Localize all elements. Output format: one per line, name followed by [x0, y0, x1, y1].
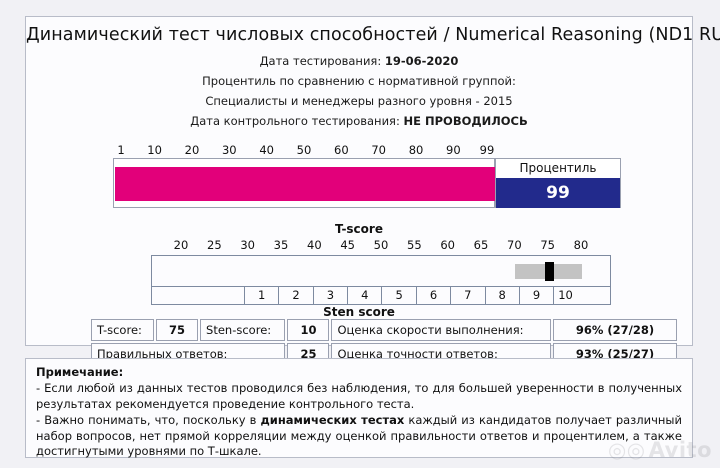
table-row: T-score: 75 Sten-score: 10 Оценка скорос… — [91, 319, 677, 341]
test-date-value: 19-06-2020 — [385, 54, 459, 68]
retest-value: НЕ ПРОВОДИЛОСЬ — [404, 114, 528, 128]
sten-cell: 5 — [382, 287, 416, 304]
sten-cell: 6 — [417, 287, 451, 304]
report-page: Динамический тест числовых способностей … — [0, 0, 720, 468]
sten-cell: 8 — [486, 287, 520, 304]
tscore-tick: 20 — [174, 238, 189, 252]
percentile-tick: 20 — [185, 143, 200, 157]
percentile-value-box: Процентиль 99 — [495, 158, 621, 208]
sten-empty-cell — [152, 287, 245, 304]
tscore-tick: 60 — [440, 238, 455, 252]
percentile-tick: 1 — [117, 143, 124, 157]
speed-value-cell: 96% (27/28) — [553, 319, 677, 341]
retest-label: Дата контрольного тестирования: — [190, 114, 400, 128]
tscore-tick: 35 — [274, 238, 289, 252]
tscore-tick: 70 — [507, 238, 522, 252]
sten-cell: 9 — [520, 287, 554, 304]
note-box: Примечание: - Если любой из данных тесто… — [25, 358, 693, 458]
speed-label-cell: Оценка скорости выполнения: — [331, 319, 551, 341]
sten-cell: 3 — [314, 287, 348, 304]
sten-scale: 12345678910 — [151, 286, 611, 305]
tscore-tick: 75 — [540, 238, 555, 252]
note-p2-start: - Важно понимать, что, поскольку в — [36, 413, 260, 427]
sten-cell: 7 — [451, 287, 485, 304]
tscore-marker — [545, 262, 554, 281]
note-paragraph-2: - Важно понимать, что, поскольку в динам… — [36, 413, 682, 460]
tscore-track — [151, 255, 611, 287]
percentile-tick: 10 — [147, 143, 162, 157]
sten-value-cell: 10 — [287, 319, 329, 341]
note-paragraph-1: - Если любой из данных тестов проводился… — [36, 381, 682, 412]
report-meta: Дата тестирования: 19-06-2020 Процентиль… — [26, 53, 692, 130]
test-date-line: Дата тестирования: 19-06-2020 — [26, 53, 692, 70]
tscore-value-cell: 75 — [156, 319, 198, 341]
percentile-bar-fill — [115, 167, 495, 201]
norm-group: Специалисты и менеджеры разного уровня -… — [26, 93, 692, 110]
tscore-axis: 20253035404550556065707580 — [181, 238, 581, 254]
percentile-tick: 30 — [222, 143, 237, 157]
report-card: Динамический тест числовых способностей … — [25, 16, 693, 346]
percentile-tick: 90 — [446, 143, 461, 157]
percentile-tick: 60 — [334, 143, 349, 157]
percentile-tick: 70 — [371, 143, 386, 157]
norm-line: Процентиль по сравнению с нормативной гр… — [26, 73, 692, 90]
tscore-title: T-score — [26, 222, 692, 236]
percentile-chart: 110203040506070809099 Процентиль 99 — [113, 143, 621, 208]
tscore-tick: 50 — [374, 238, 389, 252]
tscore-tick: 80 — [574, 238, 589, 252]
sten-label-cell: Sten-score: — [200, 319, 285, 341]
tscore-tick: 55 — [407, 238, 422, 252]
tscore-label-cell: T-score: — [91, 319, 154, 341]
percentile-tick: 50 — [297, 143, 312, 157]
sten-cell: 1 — [245, 287, 279, 304]
tscore-tick: 40 — [307, 238, 322, 252]
sten-cell: 4 — [348, 287, 382, 304]
percentile-bar-row: Процентиль 99 — [113, 158, 621, 208]
note-p2-bold: динамических тестах — [260, 413, 404, 427]
sten-cell: 2 — [279, 287, 313, 304]
note-heading: Примечание: — [36, 365, 682, 379]
retest-line: Дата контрольного тестирования: НЕ ПРОВО… — [26, 113, 692, 130]
tscore-tick: 65 — [474, 238, 489, 252]
sten-cell: 10 — [554, 287, 610, 304]
percentile-tick: 40 — [259, 143, 274, 157]
tscore-tick: 25 — [207, 238, 222, 252]
percentile-box-value: 99 — [496, 178, 620, 208]
page-title: Динамический тест числовых способностей … — [26, 17, 692, 45]
tscore-tick: 45 — [340, 238, 355, 252]
percentile-tick: 80 — [409, 143, 424, 157]
test-date-label: Дата тестирования: — [260, 54, 382, 68]
percentile-box-header: Процентиль — [496, 159, 620, 178]
percentile-tick: 99 — [480, 143, 495, 157]
percentile-axis: 110203040506070809099 — [113, 143, 495, 158]
percentile-track — [113, 158, 495, 208]
tscore-tick: 30 — [240, 238, 255, 252]
